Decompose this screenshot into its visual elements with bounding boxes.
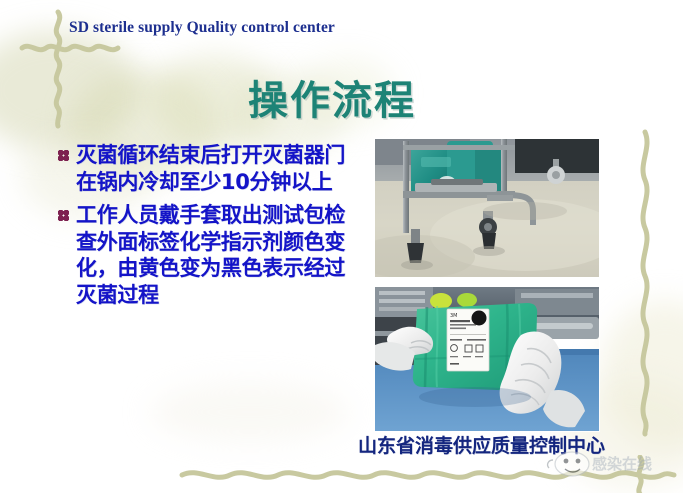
header-title: SD sterile supply Quality control center bbox=[69, 19, 335, 37]
list-item-label: 灭菌循环结束后打开灭菌器门在锅内冷却至少10分钟以上 bbox=[76, 142, 355, 195]
background-blob bbox=[600, 300, 683, 450]
background-blob bbox=[150, 382, 350, 442]
test-pack-label-photo: 3M bbox=[375, 287, 599, 431]
bullet-list: 灭菌循环结束后打开灭菌器门在锅内冷却至少10分钟以上 工作人员戴手套取出测试包检… bbox=[55, 142, 355, 315]
list-item-label: 工作人员戴手套取出测试包检查外面标签化学指示剂颜色变化，由黄色变为黑色表示经过灭… bbox=[76, 202, 355, 308]
wavy-horizontal-line-bottom-icon bbox=[178, 455, 678, 493]
slide-canvas: SD sterile supply Quality control center… bbox=[0, 0, 683, 493]
page-title: 操作流程 bbox=[248, 68, 416, 126]
sterilizer-trolley-photo bbox=[375, 139, 599, 277]
diamond-cluster-bullet-icon bbox=[55, 202, 73, 228]
footer-caption: 山东省消毒供应质量控制中心 bbox=[358, 431, 605, 458]
list-item: 灭菌循环结束后打开灭菌器门在锅内冷却至少10分钟以上 bbox=[55, 142, 355, 195]
svg-text:3M: 3M bbox=[450, 313, 458, 319]
list-item: 工作人员戴手套取出测试包检查外面标签化学指示剂颜色变化，由黄色变为黑色表示经过灭… bbox=[55, 202, 355, 308]
diamond-cluster-bullet-icon bbox=[55, 142, 73, 168]
wavy-vertical-line-right-icon bbox=[630, 128, 660, 438]
background-blob bbox=[0, 30, 140, 150]
